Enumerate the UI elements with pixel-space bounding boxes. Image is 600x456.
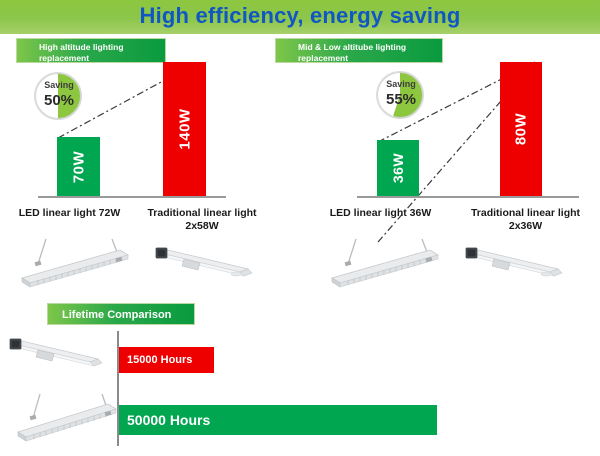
photo-lifetime-traditional-light — [8, 336, 120, 376]
photo-traditional-linear-light-left — [152, 243, 277, 285]
lifetime-label-50000-hours: 50000 Hours — [119, 412, 210, 428]
bar-led-36w: 36W — [377, 140, 419, 196]
bar-traditional-2x36w: 80W — [500, 62, 542, 196]
pie-value-left: 50% — [35, 92, 82, 109]
infographic-page: High efficiency, energy saving High alti… — [0, 0, 600, 456]
lifetime-bar-traditional: 15000 Hours — [119, 347, 214, 373]
baseline-left-chart — [38, 196, 226, 198]
baseline-right-chart — [357, 196, 579, 198]
bar-label-80w: 80W — [513, 113, 530, 145]
photo-led-linear-light-left — [8, 238, 138, 290]
pie-value-right: 55% — [377, 91, 424, 108]
header-banner: High efficiency, energy saving — [0, 0, 600, 34]
photo-lifetime-led-light — [6, 392, 122, 450]
page-title: High efficiency, energy saving — [0, 3, 600, 29]
saving-pie-left: Saving 50% — [34, 72, 82, 120]
photo-traditional-linear-light-right — [462, 243, 587, 285]
photo-led-linear-light-right — [318, 238, 448, 290]
lifetime-bar-led: 50000 Hours — [119, 405, 437, 435]
caption-traditional-2x58w: Traditional linear light 2x58W — [137, 207, 267, 233]
bar-led-72w: 70W — [57, 137, 100, 196]
bar-label-36w: 36W — [390, 153, 406, 183]
bar-traditional-2x58w: 140W — [163, 62, 206, 196]
saving-pie-right: Saving 55% — [376, 71, 424, 119]
lifetime-label-15000-hours: 15000 Hours — [119, 354, 192, 366]
bar-label-70w: 70W — [70, 150, 87, 182]
pie-label-left: Saving — [35, 80, 82, 90]
chip-lifetime-comparison: Lifetime Comparison — [47, 303, 195, 325]
bar-label-140w: 140W — [176, 108, 193, 149]
pie-label-right: Saving — [377, 79, 424, 89]
caption-traditional-2x36w: Traditional linear light 2x36W — [458, 207, 593, 233]
caption-led-linear-72w: LED linear light 72W — [2, 207, 137, 220]
caption-led-linear-36w: LED linear light 36W — [313, 207, 448, 220]
